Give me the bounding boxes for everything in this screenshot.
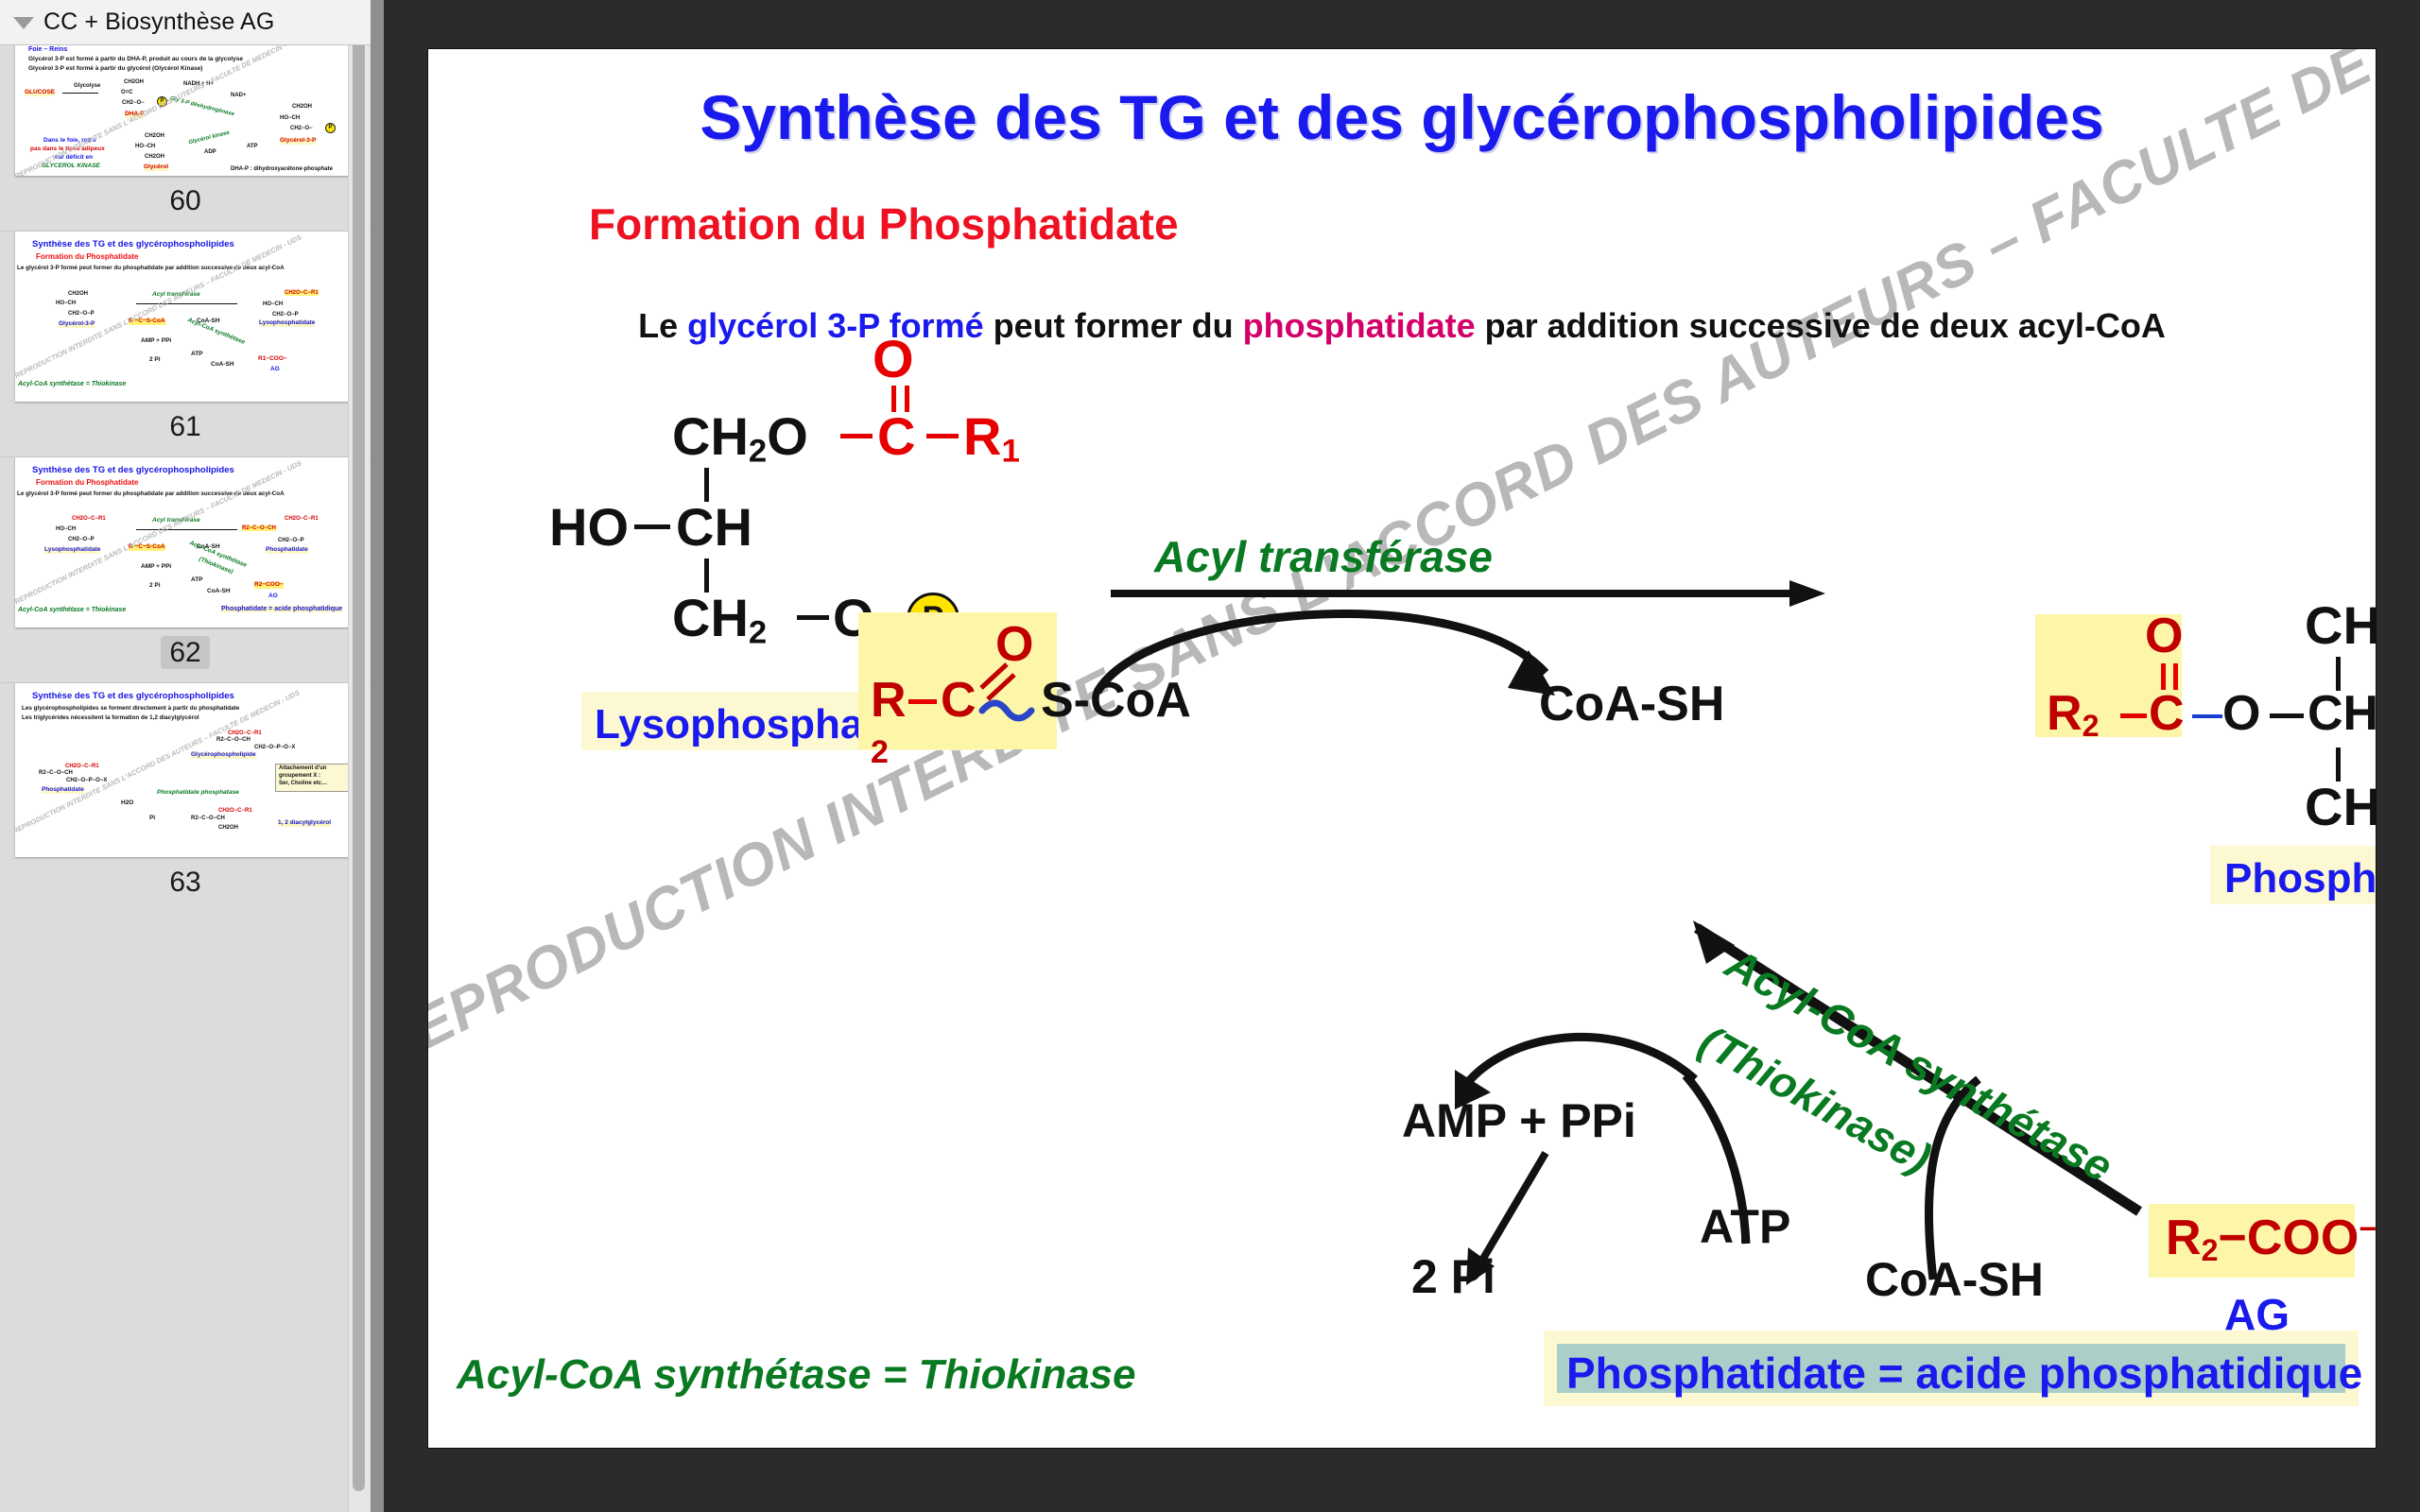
mini-ch2oh-1: CH2OH bbox=[124, 79, 144, 85]
mini-callout-3: Ser, Choline etc… bbox=[279, 781, 327, 786]
mini-ag: AG bbox=[268, 593, 278, 600]
lead-part-1: Le bbox=[638, 306, 687, 345]
mini-dag-r2c: R2−C−O−CH bbox=[191, 816, 225, 821]
right-carbonyl-carbon: C bbox=[2149, 689, 2185, 738]
mini-fatty-acid: R1−COO− bbox=[258, 356, 287, 363]
sidebar-scrollbar-thumb[interactable] bbox=[353, 8, 365, 1491]
acyl-r-group: R bbox=[871, 676, 907, 725]
thumbnail-canvas-61[interactable]: Synthèse des TG et des glycérophospholip… bbox=[15, 232, 355, 402]
mini-line-1: Les glycérophospholipides se forment dir… bbox=[22, 706, 239, 712]
acyl-carbonyl-oxygen: O bbox=[995, 620, 1033, 669]
lead-part-3: par addition successive de deux acyl-CoA bbox=[1476, 306, 2166, 345]
mini-coash-bottom: CoA-SH bbox=[211, 362, 234, 369]
right-double-bond-b bbox=[2173, 663, 2178, 690]
thumbnail-number-61: 61 bbox=[0, 402, 371, 456]
acyl-scoa-label: S-CoA bbox=[1041, 676, 1191, 725]
mini-footer-left: Acyl-CoA synthétase = Thiokinase bbox=[18, 381, 126, 387]
left-bond-o-c bbox=[840, 434, 873, 438]
mini-dag-ester: CH2O−C−R1 bbox=[218, 808, 252, 814]
mini-gpl-ester: CH2O−C−R1 bbox=[228, 730, 262, 736]
mini-ch2oh-4: CH2OH bbox=[145, 154, 164, 160]
right-ch-group: CH bbox=[2308, 689, 2376, 738]
mini-slide-61: Synthèse des TG et des glycérophospholip… bbox=[15, 232, 355, 402]
acyl-r-subscript: 2 bbox=[871, 736, 889, 768]
left-ch-group: CH bbox=[676, 501, 752, 554]
mini-ch2o-1: CH2−O− bbox=[122, 100, 145, 106]
coash-bottom-label: CoA-SH bbox=[1865, 1252, 2044, 1307]
mini-fatty-acid: R2−COO− bbox=[254, 582, 284, 589]
mini-line-5: Glycérol 3-P est formé à partir du glycé… bbox=[28, 66, 202, 73]
left-hydroxyl: HO bbox=[549, 501, 629, 554]
mini-label-glycerophospholipide: Glycérophospholipide bbox=[191, 752, 256, 759]
mini-note-4: GLYCEROL KINASE bbox=[42, 163, 100, 170]
lead-part-2: peut former du bbox=[984, 306, 1243, 345]
mini-label-lysophosphatidate: Lysophosphatidate bbox=[44, 547, 100, 554]
mini-hoch-2: HO−CH bbox=[135, 144, 155, 149]
left-ch2-group: CH2O bbox=[672, 410, 808, 468]
mini-ch2oh-3: CH2OH bbox=[145, 133, 164, 139]
mini-pa-ch2op: CH2−O−P−O−X bbox=[66, 778, 107, 783]
left-double-bond-b bbox=[905, 386, 909, 412]
mini-atp: ATP bbox=[191, 352, 203, 358]
mini-label-phosphatidate: Phosphatidate bbox=[266, 547, 308, 554]
mini-pi: Pi bbox=[149, 816, 155, 822]
mini-2pi: 2 Pi bbox=[149, 357, 161, 364]
mini-nad: NAD+ bbox=[231, 93, 247, 98]
mini-title: Synthèse des TG et des glycérophospholip… bbox=[32, 240, 234, 249]
mini-ch2oh: CH2OH bbox=[68, 291, 88, 297]
mini-r2-ester: R2−C−O−CH bbox=[242, 525, 276, 531]
thumbnail-item-63[interactable]: Synthèse des TG et des glycérophospholip… bbox=[0, 683, 371, 912]
mini-enzyme-glycerol-kinase: Glycérol kinase bbox=[188, 130, 230, 146]
amp-ppi-label: AMP + PPi bbox=[1402, 1093, 1636, 1148]
mini-label-glycerol: Glycérol bbox=[144, 164, 168, 171]
left-bond-c1-c2 bbox=[704, 468, 709, 502]
mini-hoch: HO−CH bbox=[56, 526, 76, 532]
left-bond-c-r bbox=[926, 434, 959, 438]
fatty-acid-label: R2−COO− bbox=[2166, 1213, 2376, 1265]
thumbnail-item-62[interactable]: Synthèse des TG et des glycérophospholip… bbox=[0, 457, 371, 682]
mini-label-phosphatidate: Phosphatidate bbox=[42, 787, 84, 794]
mini-2pi: 2 Pi bbox=[149, 583, 161, 590]
left-carbonyl-carbon: C bbox=[877, 410, 915, 463]
right-ch2-group: CH2O bbox=[2305, 599, 2376, 657]
footer-right-note: Phosphatidate = acide phosphatidique bbox=[1566, 1348, 2362, 1399]
mini-callout-1: Attachement d'un bbox=[279, 765, 326, 771]
mini-title: Synthèse des TG et des glycérophospholip… bbox=[32, 466, 234, 475]
right-bond-r2-c bbox=[2120, 713, 2147, 718]
page-title: Synthèse des TG et des glycérophospholip… bbox=[428, 81, 2376, 153]
right-bond-c-o bbox=[2192, 714, 2222, 718]
mini-label-glycolyse: Glycolyse bbox=[74, 83, 100, 89]
mini-slide-62: Synthèse des TG et des glycérophospholip… bbox=[15, 457, 355, 627]
mini-footnote: DHA-P : dihydroxyacétone-phosphate bbox=[231, 166, 333, 172]
mini-ag: AG bbox=[270, 367, 280, 373]
left-bond-ho-ch bbox=[634, 524, 670, 529]
mini-phosphate-icon-2: P bbox=[325, 123, 336, 133]
lead-sentence: Le glycérol 3-P formé peut former du pho… bbox=[457, 306, 2347, 346]
mini-ester-right: CH2O−C−R1 bbox=[285, 516, 319, 522]
mini-arrow-1 bbox=[62, 93, 98, 94]
mini-callout-2: groupement X : bbox=[279, 773, 320, 779]
sidebar-header-title: CC + Biosynthèse AG bbox=[43, 9, 274, 36]
mini-atp: ATP bbox=[247, 144, 258, 149]
mini-ch2op: CH2−O−P bbox=[68, 537, 95, 542]
thumbnail-canvas-63[interactable]: Synthèse des TG et des glycérophospholip… bbox=[15, 683, 355, 857]
mini-pa-ester: CH2O−C−R1 bbox=[65, 764, 99, 769]
lead-highlight-magenta: phosphatidate bbox=[1243, 306, 1476, 345]
mini-footer-left: Acyl-CoA synthétase = Thiokinase bbox=[18, 607, 126, 613]
mini-hoch: HO−CH bbox=[56, 301, 76, 306]
mini-footer-right: Phosphatidate = acide phosphatidique bbox=[221, 606, 342, 612]
mini-hoch-right: HO−CH bbox=[263, 301, 283, 307]
mini-atp: ATP bbox=[191, 577, 203, 584]
mini-hoch-1: HO−CH bbox=[280, 115, 300, 121]
mini-amp-ppi: AMP + PPi bbox=[141, 564, 171, 571]
mini-coash-bottom: CoA-SH bbox=[207, 589, 231, 595]
mini-label-diacylglycerol: 1, 2 diacylglycérol bbox=[278, 820, 331, 827]
page-subtitle: Formation du Phosphatidate bbox=[589, 198, 1179, 249]
phosphatidate-label: Phosphatidate bbox=[2224, 855, 2376, 902]
right-bond-c1-c2 bbox=[2336, 657, 2341, 691]
thumbnail-item-61[interactable]: Synthèse des TG et des glycérophospholip… bbox=[0, 232, 371, 456]
thumbnail-list[interactable]: Synthèse des TG et des glycérophospholip… bbox=[0, 0, 371, 912]
coash-top-label: CoA-SH bbox=[1539, 676, 1724, 732]
right-ester-oxygen: O bbox=[2222, 689, 2260, 738]
mini-line-2: Les triglycérides nécessitent la formati… bbox=[22, 715, 199, 721]
thumbnail-canvas-62[interactable]: Synthèse des TG et des glycérophospholip… bbox=[15, 457, 355, 627]
right-ch2-bottom: CH2 bbox=[2305, 781, 2376, 838]
acyl-carbonyl-carbon: C bbox=[941, 676, 977, 725]
mini-ester: CH2O−C−R1 bbox=[285, 290, 319, 296]
right-r2-group: R2 bbox=[2047, 689, 2100, 741]
mini-line-3: Foie – Reins bbox=[28, 46, 67, 53]
left-r1-group: R1 bbox=[963, 410, 1020, 468]
two-pi-label: 2 Pi bbox=[1411, 1249, 1495, 1304]
mini-title: Synthèse des TG et des glycérophospholip… bbox=[32, 692, 234, 701]
mini-ch2op-right: CH2−O−P bbox=[272, 312, 299, 318]
lead-highlight-blue: glycérol 3-P formé bbox=[687, 306, 983, 345]
mini-amp-ppi: AMP + PPi bbox=[141, 338, 171, 345]
mini-slide-63: Synthèse des TG et des glycérophospholip… bbox=[15, 683, 355, 857]
right-double-bond-a bbox=[2161, 663, 2166, 690]
left-ch2-bottom: CH2 bbox=[672, 592, 767, 649]
mini-adp: ADP bbox=[204, 149, 216, 155]
mini-label-glucose: GLUCOSE bbox=[25, 90, 55, 96]
left-carbonyl-oxygen: O bbox=[873, 333, 914, 386]
mini-enzyme-phosphatase: Phosphatidate phosphatase bbox=[157, 790, 239, 797]
slide-navigator-sidebar[interactable]: Synthèse des TG et des glycérophospholip… bbox=[0, 0, 371, 1512]
thumbnail-number-62: 62 bbox=[0, 627, 371, 682]
left-bond-ch2-o bbox=[797, 615, 829, 620]
acyl-transferase-enzyme-label: Acyl transférase bbox=[1154, 531, 1493, 582]
footer-left-note: Acyl-CoA synthétase = Thiokinase bbox=[457, 1351, 1135, 1399]
mini-gpl-r2c: R2−C−O−CH bbox=[216, 737, 251, 743]
mini-ch2op: CH2−O−P bbox=[68, 311, 95, 317]
mini-gpl-ch2op: CH2−O−P−O−X bbox=[254, 745, 295, 750]
right-bond-o-ch bbox=[2270, 713, 2304, 718]
mini-ch2oh-2: CH2OH bbox=[292, 104, 312, 110]
mini-label-lysophosphatidate: Lysophosphatidate bbox=[259, 320, 315, 327]
right-carbonyl-oxygen: O bbox=[2145, 611, 2183, 661]
mini-h2o: H2O bbox=[121, 800, 133, 807]
mini-ester-left: CH2O−C−R1 bbox=[72, 516, 106, 522]
mini-ch2op-right: CH2−O−P bbox=[278, 538, 304, 543]
slide-stage: REPRODUCTION INTERDITE SANS L'ACCORD DES… bbox=[384, 0, 2420, 1512]
acyl-bond-r-c bbox=[908, 699, 937, 704]
mini-subtitle: Formation du Phosphatidate bbox=[36, 253, 138, 261]
mini-label-glycerol3p: Glycérol-3-P bbox=[280, 138, 316, 145]
atp-label: ATP bbox=[1700, 1199, 1790, 1254]
triangle-down-icon[interactable] bbox=[13, 17, 34, 29]
mini-pa-r2c: R2−C−O−CH bbox=[39, 770, 73, 776]
left-double-bond-a bbox=[891, 386, 896, 412]
mini-dag-ch2oh: CH2OH bbox=[218, 825, 238, 831]
current-slide[interactable]: REPRODUCTION INTERDITE SANS L'ACCORD DES… bbox=[428, 49, 2376, 1448]
presentation-window: Synthèse des TG et des glycérophospholip… bbox=[0, 0, 2420, 1512]
thumbnail-number-60: 60 bbox=[0, 176, 371, 231]
mini-ch2o-2: CH2−O− bbox=[290, 126, 313, 131]
sidebar-splitter[interactable] bbox=[371, 0, 384, 1512]
sidebar-header[interactable]: CC + Biosynthèse AG bbox=[0, 0, 371, 45]
mini-label-glycerol3p: Glycérol-3-P bbox=[59, 321, 95, 328]
mini-line-4: Glycérol 3-P est formé à partir du DHA-P… bbox=[28, 57, 243, 63]
mini-subtitle: Formation du Phosphatidate bbox=[36, 479, 138, 487]
mini-oc: O=C bbox=[121, 90, 133, 95]
thumbnail-number-63: 63 bbox=[0, 857, 371, 912]
